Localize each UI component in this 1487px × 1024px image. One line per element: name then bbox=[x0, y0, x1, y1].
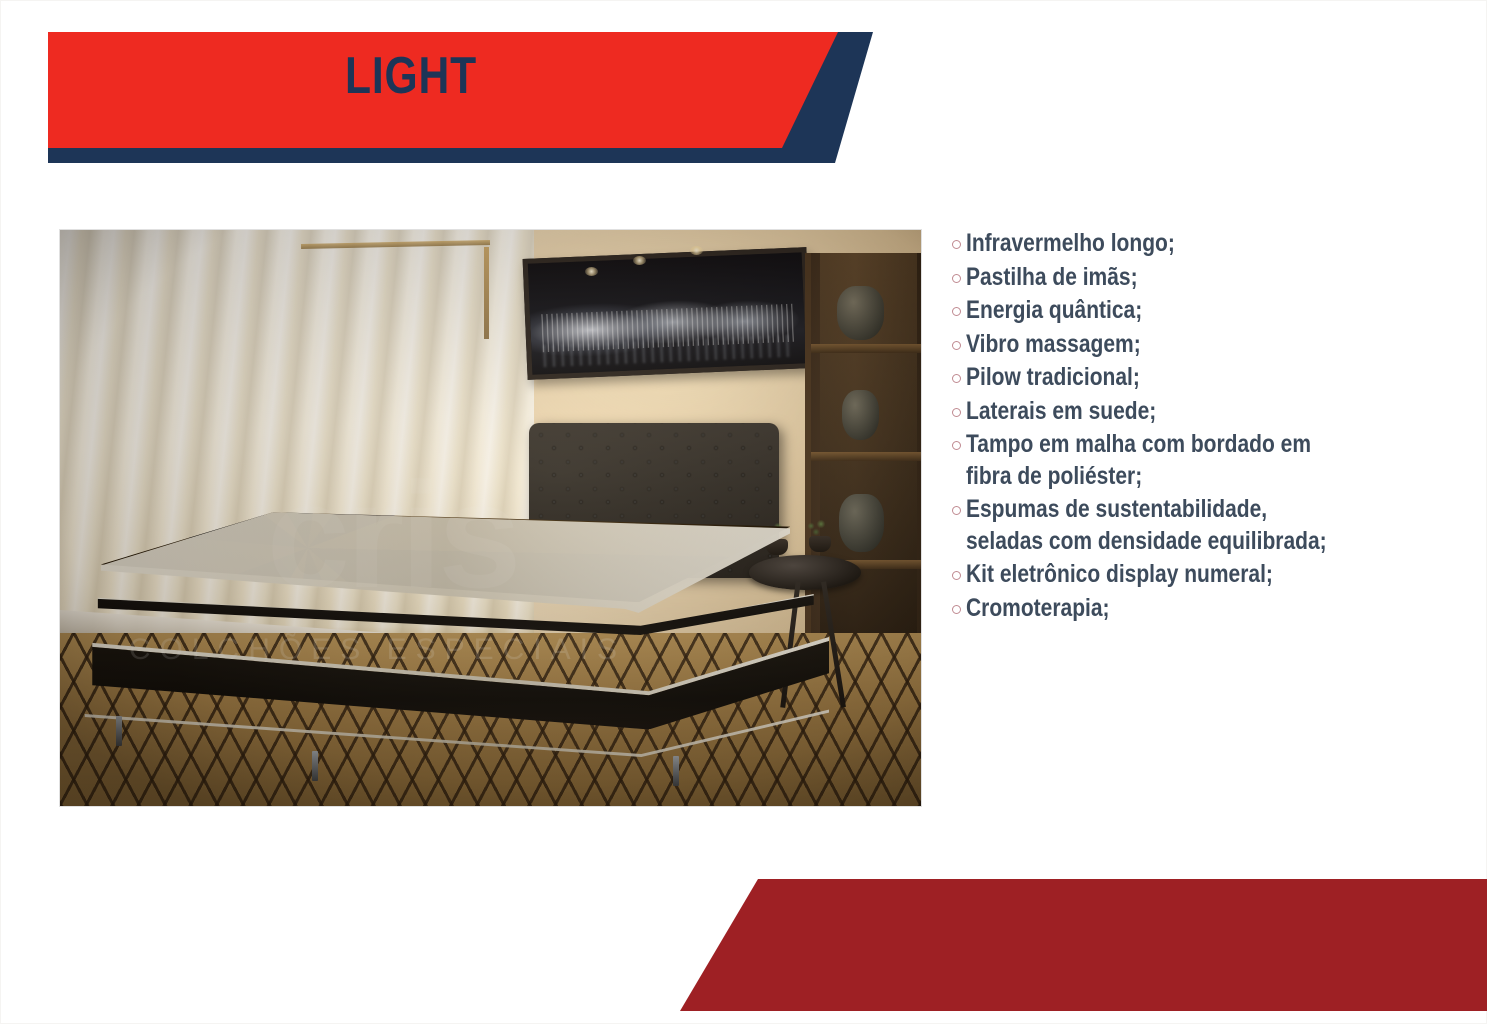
feature-label: Energia quântica; bbox=[966, 295, 1349, 327]
product-photo: cris COLCHÕES ESPECIAIS bbox=[60, 230, 921, 806]
bullet-circle-icon bbox=[952, 274, 961, 283]
shelf-decor-object bbox=[842, 390, 879, 440]
list-item: Tampo em malha com bordado em fibra de p… bbox=[952, 429, 1422, 492]
list-item: Laterais em suede; bbox=[952, 396, 1422, 428]
bullet-circle-icon bbox=[952, 240, 961, 249]
list-item: Espumas de sustentabilidade, seladas com… bbox=[952, 494, 1422, 557]
bullet-circle-icon bbox=[952, 441, 961, 450]
feature-label: Vibro massagem; bbox=[966, 329, 1349, 361]
list-item: Infravermelho longo; bbox=[952, 228, 1422, 260]
bed-leg bbox=[673, 756, 679, 786]
bullet-circle-icon bbox=[952, 605, 961, 614]
box-base-layer bbox=[77, 629, 829, 730]
feature-label: Cromoterapia; bbox=[966, 593, 1349, 625]
feature-label: Pastilha de imãs; bbox=[966, 262, 1349, 294]
page-title: LIGHT bbox=[345, 50, 477, 102]
list-item: Pastilha de imãs; bbox=[952, 262, 1422, 294]
mattress-box-set bbox=[77, 512, 861, 777]
list-item: Kit eletrônico display numeral; bbox=[952, 559, 1422, 591]
slide-canvas: LIGHT bbox=[0, 0, 1487, 1024]
bullet-circle-icon bbox=[952, 374, 961, 383]
feature-label: Tampo em malha com bordado em fibra de p… bbox=[966, 429, 1349, 492]
photo-scene: cris COLCHÕES ESPECIAIS bbox=[60, 230, 921, 806]
shelf-plank bbox=[811, 452, 921, 461]
features-list: Infravermelho longo; Pastilha de imãs; E… bbox=[952, 228, 1422, 626]
bullet-circle-icon bbox=[952, 341, 961, 350]
shelf-vase bbox=[837, 286, 883, 340]
bed-leg bbox=[312, 751, 318, 781]
curtain-rod-drop bbox=[484, 247, 489, 339]
mattress-top-piping bbox=[101, 512, 790, 613]
wall-artwork-cityscape bbox=[523, 247, 812, 380]
bullet-circle-icon bbox=[952, 408, 961, 417]
feature-label: Espumas de sustentabilidade, seladas com… bbox=[966, 494, 1349, 557]
list-item: Vibro massagem; bbox=[952, 329, 1422, 361]
footer-accent-shape bbox=[660, 870, 1487, 1024]
feature-label: Infravermelho longo; bbox=[966, 228, 1349, 260]
list-item: Cromoterapia; bbox=[952, 593, 1422, 625]
shelf-plank bbox=[811, 344, 921, 353]
header-banner: LIGHT bbox=[0, 0, 900, 190]
bullet-circle-icon bbox=[952, 307, 961, 316]
bullet-circle-icon bbox=[952, 571, 961, 580]
bullet-circle-icon bbox=[952, 506, 961, 515]
feature-label: Laterais em suede; bbox=[966, 396, 1349, 428]
bed-leg bbox=[116, 716, 122, 746]
feature-label: Pilow tradicional; bbox=[966, 362, 1349, 394]
feature-label: Kit eletrônico display numeral; bbox=[966, 559, 1349, 591]
list-item: Energia quântica; bbox=[952, 295, 1422, 327]
list-item: Pilow tradicional; bbox=[952, 362, 1422, 394]
